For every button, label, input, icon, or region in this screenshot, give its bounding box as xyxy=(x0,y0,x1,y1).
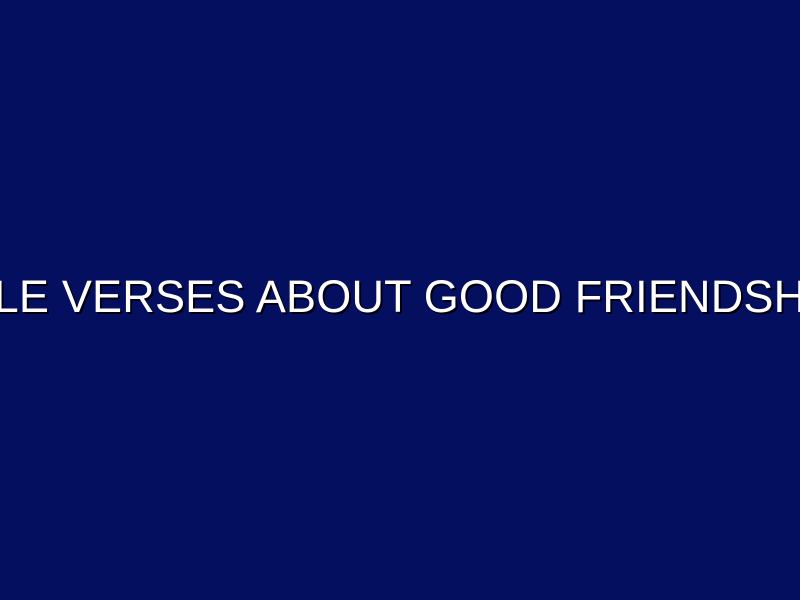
title-card: BIBLE VERSES ABOUT GOOD FRIENDSHIPS xyxy=(0,0,800,600)
page-title: BIBLE VERSES ABOUT GOOD FRIENDSHIPS xyxy=(0,274,800,319)
headline-container: BIBLE VERSES ABOUT GOOD FRIENDSHIPS xyxy=(0,274,800,319)
